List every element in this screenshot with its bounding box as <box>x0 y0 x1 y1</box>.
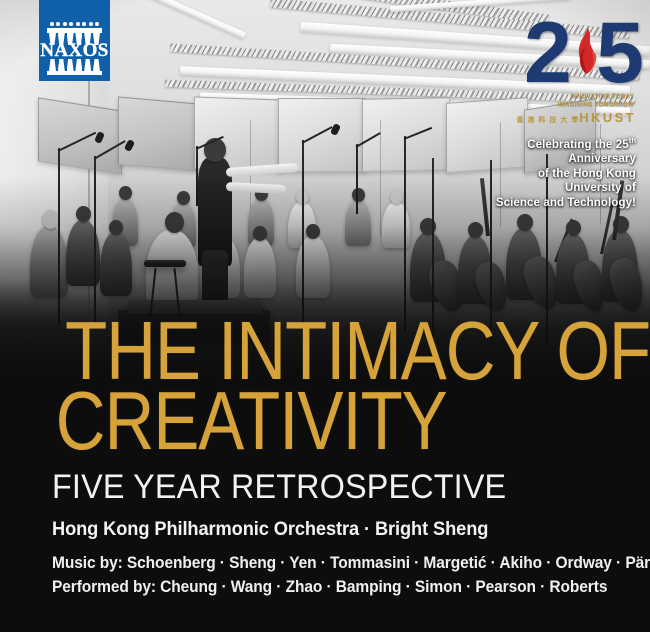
anniversary-tagline-line2: IMAGINING TOMORROW <box>492 102 634 110</box>
anniversary-number-25: 2 5 <box>526 14 636 94</box>
performed-by-credits: Performed by: Cheung · Wang · Zhao · Bam… <box>52 578 607 597</box>
album-title-block: THE INTIMACY OF CREATIVITY <box>0 316 650 456</box>
caption-text-end: Anniversary <box>568 153 636 165</box>
anniversary-caption-line2: of the Hong Kong University of <box>492 167 636 196</box>
album-title-line-2: CREATIVITY <box>0 382 605 460</box>
hkust-name-row: 香 港 科 技 大 學HKUST <box>492 110 636 125</box>
anniversary-caption-line1: Celebrating the 25th Anniversary <box>492 134 636 167</box>
album-performers: Hong Kong Philharmonic Orchestra · Brigh… <box>52 519 488 541</box>
naxos-base <box>47 71 102 75</box>
hkust-anniversary-logo: 2 5 INNOVATING TODAY IMAGINING TOMORROW … <box>492 14 642 154</box>
naxos-logo: NAXOS <box>39 0 110 81</box>
naxos-columns-lower <box>49 59 100 71</box>
music-by-credits: Music by: Schoenberg · Sheng · Yen · Tom… <box>52 554 650 573</box>
naxos-dots-ornament <box>50 21 99 26</box>
caption-text-start: Celebrating the 25 <box>527 139 629 151</box>
anniversary-caption: Celebrating the 25th Anniversary of the … <box>492 134 636 210</box>
album-cover: NAXOS 2 5 INNOVATING TODAY IMAGINING TOM… <box>0 0 650 632</box>
digit-five: 5 <box>596 14 640 92</box>
anniversary-caption-line3: Science and Technology! <box>492 196 636 211</box>
hkust-chinese-name: 香 港 科 技 大 學 <box>516 117 579 124</box>
hkust-abbreviation: HKUST <box>579 110 636 125</box>
digit-two: 2 <box>524 14 568 92</box>
flame-icon <box>574 28 600 80</box>
ordinal-suffix: th <box>629 136 636 145</box>
album-subtitle: FIVE YEAR RETROSPECTIVE <box>52 469 506 505</box>
